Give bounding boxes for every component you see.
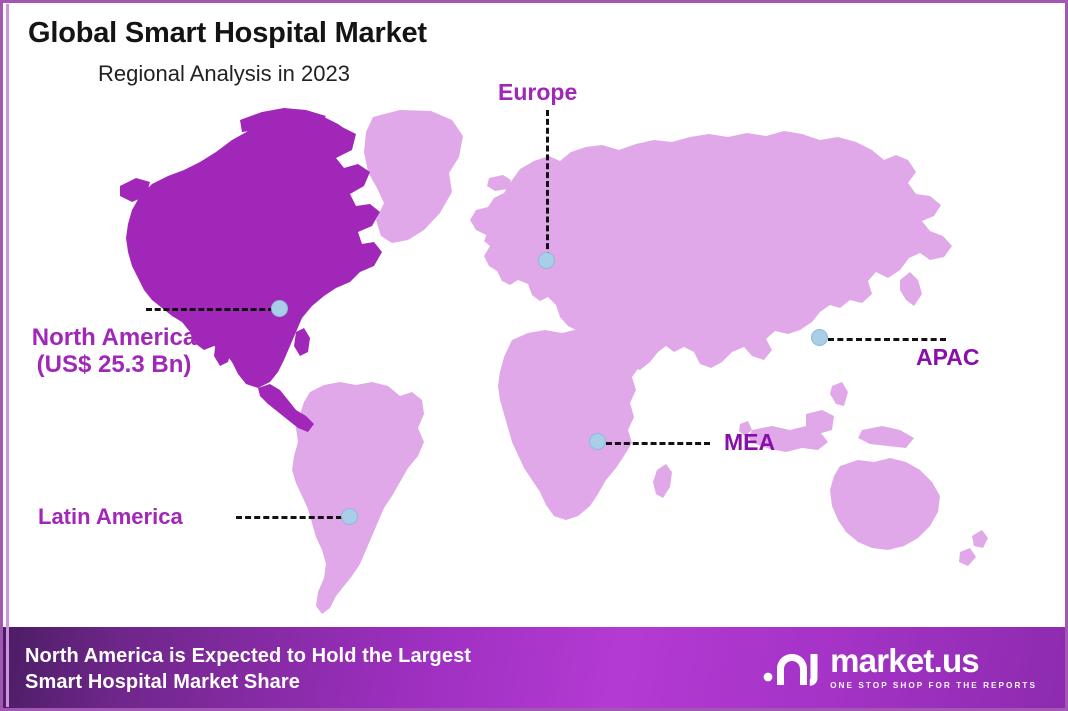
region-label-north-america[interactable]: North America (US$ 25.3 Bn) (14, 325, 214, 379)
region-label-apac[interactable]: APAC (916, 345, 979, 371)
connector-apac (828, 338, 946, 341)
region-label-europe[interactable]: Europe (498, 80, 577, 106)
region-label-mea[interactable]: MEA (724, 430, 775, 456)
market-us-logo-mark (763, 647, 819, 687)
connector-latin-america (236, 516, 342, 519)
marker-europe[interactable] (538, 252, 555, 269)
market-us-logo-text: market.us ONE STOP SHOP FOR THE REPORTS (830, 644, 1037, 690)
logo-wordmark: market.us (830, 644, 979, 677)
connector-mea (606, 442, 710, 445)
footer-headline: North America is Expected to Hold the La… (25, 643, 471, 696)
connector-north-america (146, 308, 274, 311)
marker-apac[interactable] (811, 329, 828, 346)
region-label-north-america-name: North America (32, 324, 196, 351)
infographic-page: Global Smart Hospital Market Regional An… (0, 0, 1068, 711)
marker-mea[interactable] (589, 433, 606, 450)
region-label-north-america-value: (US$ 25.3 Bn) (37, 351, 192, 378)
footer-banner: North America is Expected to Hold the La… (3, 627, 1065, 708)
region-label-latin-america[interactable]: Latin America (38, 505, 183, 530)
marker-north-america[interactable] (271, 300, 288, 317)
map-annotations: North America (US$ 25.3 Bn) Europe APAC … (0, 0, 1068, 640)
market-us-logo[interactable]: market.us ONE STOP SHOP FOR THE REPORTS (763, 643, 1037, 691)
logo-tagline: ONE STOP SHOP FOR THE REPORTS (830, 681, 1037, 690)
connector-europe (546, 110, 549, 258)
marker-latin-america[interactable] (341, 508, 358, 525)
